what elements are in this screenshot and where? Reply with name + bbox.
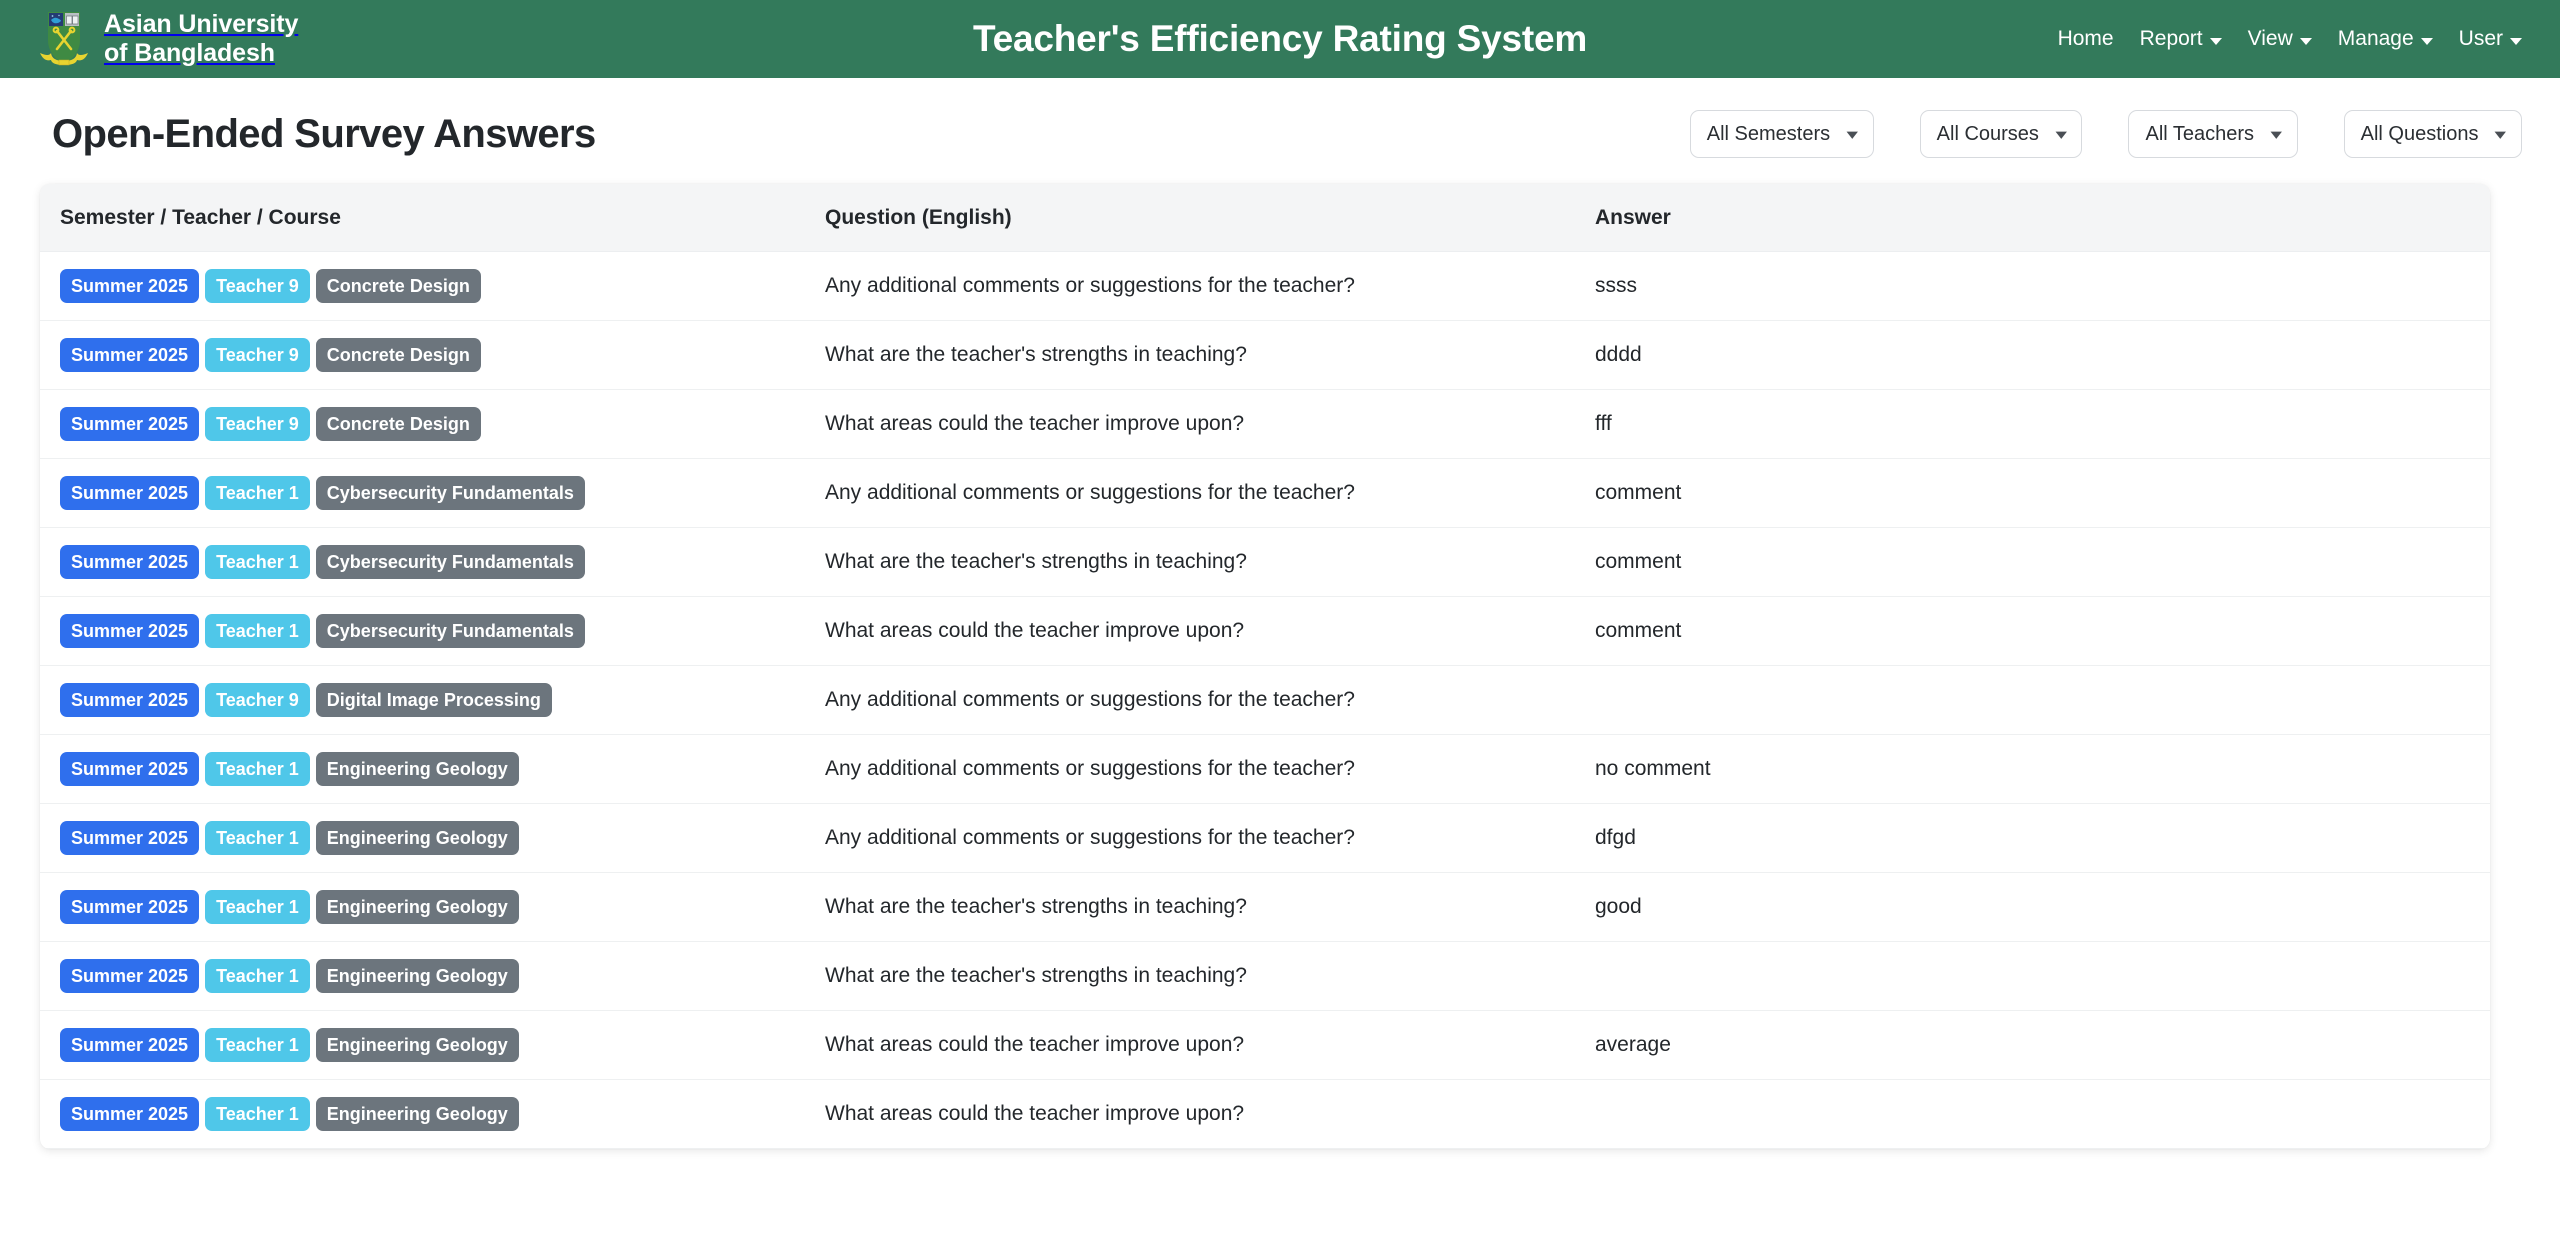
cell-answer: comment bbox=[1595, 459, 2490, 528]
cell-semester-teacher-course: Summer 2025Teacher 1Cybersecurity Fundam… bbox=[40, 528, 825, 597]
table-row: Summer 2025Teacher 9Concrete DesignAny a… bbox=[40, 252, 2490, 321]
table-body: Summer 2025Teacher 9Concrete DesignAny a… bbox=[40, 252, 2490, 1149]
badge-group: Summer 2025Teacher 9Digital Image Proces… bbox=[60, 683, 825, 717]
status-badge-course: Engineering Geology bbox=[316, 1028, 519, 1062]
cell-semester-teacher-course: Summer 2025Teacher 9Concrete Design bbox=[40, 252, 825, 321]
table-row: Summer 2025Teacher 1Engineering GeologyW… bbox=[40, 1011, 2490, 1080]
status-badge-semester: Summer 2025 bbox=[60, 890, 199, 924]
brand-name: Asian University of Bangladesh bbox=[104, 10, 298, 68]
nav-item-home[interactable]: Home bbox=[2058, 27, 2114, 51]
status-badge-course: Concrete Design bbox=[316, 407, 481, 441]
teacher-filter-value: All Teachers bbox=[2145, 123, 2254, 146]
cell-question: What are the teacher's strengths in teac… bbox=[825, 528, 1595, 597]
status-badge-teacher: Teacher 1 bbox=[205, 614, 310, 648]
cell-semester-teacher-course: Summer 2025Teacher 1Engineering Geology bbox=[40, 804, 825, 873]
page-content: Open-Ended Survey Answers All Semesters … bbox=[0, 78, 2560, 1149]
status-badge-teacher: Teacher 9 bbox=[205, 407, 310, 441]
chevron-down-icon bbox=[2300, 38, 2312, 45]
cell-semester-teacher-course: Summer 2025Teacher 1Engineering Geology bbox=[40, 1080, 825, 1149]
cell-question: What are the teacher's strengths in teac… bbox=[825, 321, 1595, 390]
badge-group: Summer 2025Teacher 1Engineering Geology bbox=[60, 890, 825, 924]
status-badge-teacher: Teacher 1 bbox=[205, 959, 310, 993]
badge-group: Summer 2025Teacher 1Engineering Geology bbox=[60, 1097, 825, 1131]
cell-answer: fff bbox=[1595, 390, 2490, 459]
question-filter-value: All Questions bbox=[2361, 123, 2479, 146]
cell-answer bbox=[1595, 942, 2490, 1011]
cell-question: Any additional comments or suggestions f… bbox=[825, 804, 1595, 873]
chevron-down-icon: ▾ bbox=[1847, 127, 1859, 141]
cell-question: What areas could the teacher improve upo… bbox=[825, 390, 1595, 459]
status-badge-semester: Summer 2025 bbox=[60, 338, 199, 372]
nav-item-report-label: Report bbox=[2140, 27, 2203, 51]
status-badge-course: Cybersecurity Fundamentals bbox=[316, 476, 585, 510]
status-badge-course: Engineering Geology bbox=[316, 1097, 519, 1131]
table-row: Summer 2025Teacher 1Cybersecurity Fundam… bbox=[40, 597, 2490, 666]
chevron-down-icon bbox=[2421, 38, 2433, 45]
status-badge-course: Cybersecurity Fundamentals bbox=[316, 614, 585, 648]
top-navbar: Asian University of Bangladesh Teacher's… bbox=[0, 0, 2560, 78]
nav-item-report[interactable]: Report bbox=[2140, 27, 2222, 51]
cell-answer bbox=[1595, 1080, 2490, 1149]
survey-answers-table: Semester / Teacher / Course Question (En… bbox=[40, 184, 2490, 1149]
badge-group: Summer 2025Teacher 1Engineering Geology bbox=[60, 959, 825, 993]
status-badge-teacher: Teacher 9 bbox=[205, 683, 310, 717]
status-badge-semester: Summer 2025 bbox=[60, 1028, 199, 1062]
brand-line-1: Asian University bbox=[104, 10, 298, 38]
nav-item-manage-label: Manage bbox=[2338, 27, 2414, 51]
status-badge-course: Concrete Design bbox=[316, 338, 481, 372]
status-badge-semester: Summer 2025 bbox=[60, 959, 199, 993]
badge-group: Summer 2025Teacher 1Engineering Geology bbox=[60, 1028, 825, 1062]
cell-semester-teacher-course: Summer 2025Teacher 1Engineering Geology bbox=[40, 942, 825, 1011]
page-title: Open-Ended Survey Answers bbox=[52, 112, 596, 157]
cell-semester-teacher-course: Summer 2025Teacher 1Engineering Geology bbox=[40, 873, 825, 942]
table-head: Semester / Teacher / Course Question (En… bbox=[40, 184, 2490, 252]
teacher-filter[interactable]: All Teachers ▾ bbox=[2128, 110, 2297, 158]
nav-item-view-label: View bbox=[2248, 27, 2293, 51]
cell-answer: ssss bbox=[1595, 252, 2490, 321]
status-badge-semester: Summer 2025 bbox=[60, 1097, 199, 1131]
cell-answer: dddd bbox=[1595, 321, 2490, 390]
chevron-down-icon: ▾ bbox=[2271, 127, 2283, 141]
status-badge-semester: Summer 2025 bbox=[60, 407, 199, 441]
cell-answer: average bbox=[1595, 1011, 2490, 1080]
badge-group: Summer 2025Teacher 9Concrete Design bbox=[60, 269, 825, 303]
cell-semester-teacher-course: Summer 2025Teacher 1Cybersecurity Fundam… bbox=[40, 459, 825, 528]
nav-item-user-label: User bbox=[2459, 27, 2503, 51]
cell-answer: comment bbox=[1595, 597, 2490, 666]
nav-item-home-label: Home bbox=[2058, 27, 2114, 51]
column-header-semester-teacher-course: Semester / Teacher / Course bbox=[40, 184, 825, 252]
table-row: Summer 2025Teacher 1Engineering GeologyA… bbox=[40, 804, 2490, 873]
cell-question: Any additional comments or suggestions f… bbox=[825, 459, 1595, 528]
cell-semester-teacher-course: Summer 2025Teacher 1Engineering Geology bbox=[40, 1011, 825, 1080]
cell-semester-teacher-course: Summer 2025Teacher 9Concrete Design bbox=[40, 390, 825, 459]
page-header-row: Open-Ended Survey Answers All Semesters … bbox=[38, 78, 2522, 184]
status-badge-teacher: Teacher 1 bbox=[205, 1097, 310, 1131]
table-row: Summer 2025Teacher 9Concrete DesignWhat … bbox=[40, 321, 2490, 390]
nav-item-user[interactable]: User bbox=[2459, 27, 2522, 51]
status-badge-teacher: Teacher 1 bbox=[205, 821, 310, 855]
status-badge-course: Engineering Geology bbox=[316, 890, 519, 924]
cell-answer: no comment bbox=[1595, 735, 2490, 804]
chevron-down-icon: ▾ bbox=[2495, 127, 2507, 141]
status-badge-course: Engineering Geology bbox=[316, 821, 519, 855]
status-badge-teacher: Teacher 1 bbox=[205, 1028, 310, 1062]
cell-question: What are the teacher's strengths in teac… bbox=[825, 942, 1595, 1011]
badge-group: Summer 2025Teacher 1Cybersecurity Fundam… bbox=[60, 545, 825, 579]
chevron-down-icon: ▾ bbox=[2055, 127, 2067, 141]
badge-group: Summer 2025Teacher 1Engineering Geology bbox=[60, 821, 825, 855]
badge-group: Summer 2025Teacher 1Cybersecurity Fundam… bbox=[60, 476, 825, 510]
chevron-down-icon bbox=[2510, 38, 2522, 45]
status-badge-teacher: Teacher 1 bbox=[205, 752, 310, 786]
status-badge-semester: Summer 2025 bbox=[60, 476, 199, 510]
course-filter-value: All Courses bbox=[1937, 123, 2039, 146]
cell-answer: comment bbox=[1595, 528, 2490, 597]
cell-semester-teacher-course: Summer 2025Teacher 9Concrete Design bbox=[40, 321, 825, 390]
cell-question: What areas could the teacher improve upo… bbox=[825, 597, 1595, 666]
question-filter[interactable]: All Questions ▾ bbox=[2344, 110, 2522, 158]
status-badge-semester: Summer 2025 bbox=[60, 545, 199, 579]
cell-question: Any additional comments or suggestions f… bbox=[825, 735, 1595, 804]
status-badge-course: Cybersecurity Fundamentals bbox=[316, 545, 585, 579]
table-row: Summer 2025Teacher 1Engineering GeologyW… bbox=[40, 873, 2490, 942]
status-badge-semester: Summer 2025 bbox=[60, 821, 199, 855]
cell-semester-teacher-course: Summer 2025Teacher 9Digital Image Proces… bbox=[40, 666, 825, 735]
status-badge-semester: Summer 2025 bbox=[60, 752, 199, 786]
status-badge-teacher: Teacher 1 bbox=[205, 545, 310, 579]
cell-question: What are the teacher's strengths in teac… bbox=[825, 873, 1595, 942]
column-header-answer: Answer bbox=[1595, 184, 2490, 252]
brand-line-2: of Bangladesh bbox=[104, 39, 298, 68]
status-badge-semester: Summer 2025 bbox=[60, 614, 199, 648]
filter-bar: All Semesters ▾ All Courses ▾ All Teache… bbox=[1690, 110, 2522, 158]
table-row: Summer 2025Teacher 9Digital Image Proces… bbox=[40, 666, 2490, 735]
course-filter[interactable]: All Courses ▾ bbox=[1920, 110, 2083, 158]
cell-semester-teacher-course: Summer 2025Teacher 1Engineering Geology bbox=[40, 735, 825, 804]
nav-item-view[interactable]: View bbox=[2248, 27, 2312, 51]
status-badge-course: Digital Image Processing bbox=[316, 683, 552, 717]
university-crest-icon bbox=[38, 8, 90, 70]
table-row: Summer 2025Teacher 1Engineering GeologyA… bbox=[40, 735, 2490, 804]
cell-question: What areas could the teacher improve upo… bbox=[825, 1011, 1595, 1080]
status-badge-semester: Summer 2025 bbox=[60, 683, 199, 717]
cell-answer bbox=[1595, 666, 2490, 735]
table-row: Summer 2025Teacher 1Cybersecurity Fundam… bbox=[40, 528, 2490, 597]
cell-answer: good bbox=[1595, 873, 2490, 942]
status-badge-course: Concrete Design bbox=[316, 269, 481, 303]
status-badge-course: Engineering Geology bbox=[316, 752, 519, 786]
cell-question: What areas could the teacher improve upo… bbox=[825, 1080, 1595, 1149]
table-row: Summer 2025Teacher 1Cybersecurity Fundam… bbox=[40, 459, 2490, 528]
cell-semester-teacher-course: Summer 2025Teacher 1Cybersecurity Fundam… bbox=[40, 597, 825, 666]
badge-group: Summer 2025Teacher 9Concrete Design bbox=[60, 338, 825, 372]
cell-question: Any additional comments or suggestions f… bbox=[825, 252, 1595, 321]
badge-group: Summer 2025Teacher 9Concrete Design bbox=[60, 407, 825, 441]
badge-group: Summer 2025Teacher 1Engineering Geology bbox=[60, 752, 825, 786]
survey-answers-card: Semester / Teacher / Course Question (En… bbox=[40, 184, 2490, 1149]
status-badge-semester: Summer 2025 bbox=[60, 269, 199, 303]
nav-item-manage[interactable]: Manage bbox=[2338, 27, 2433, 51]
main-nav: Home Report View Manage User bbox=[2058, 27, 2522, 51]
column-header-question: Question (English) bbox=[825, 184, 1595, 252]
table-row: Summer 2025Teacher 9Concrete DesignWhat … bbox=[40, 390, 2490, 459]
table-header-row: Semester / Teacher / Course Question (En… bbox=[40, 184, 2490, 252]
chevron-down-icon bbox=[2210, 38, 2222, 45]
status-badge-teacher: Teacher 1 bbox=[205, 890, 310, 924]
status-badge-course: Engineering Geology bbox=[316, 959, 519, 993]
status-badge-teacher: Teacher 1 bbox=[205, 476, 310, 510]
table-row: Summer 2025Teacher 1Engineering GeologyW… bbox=[40, 1080, 2490, 1149]
status-badge-teacher: Teacher 9 bbox=[205, 269, 310, 303]
semester-filter[interactable]: All Semesters ▾ bbox=[1690, 110, 1874, 158]
brand-logo-link[interactable]: Asian University of Bangladesh bbox=[38, 8, 298, 70]
table-row: Summer 2025Teacher 1Engineering GeologyW… bbox=[40, 942, 2490, 1011]
semester-filter-value: All Semesters bbox=[1707, 123, 1830, 146]
badge-group: Summer 2025Teacher 1Cybersecurity Fundam… bbox=[60, 614, 825, 648]
cell-question: Any additional comments or suggestions f… bbox=[825, 666, 1595, 735]
cell-answer: dfgd bbox=[1595, 804, 2490, 873]
status-badge-teacher: Teacher 9 bbox=[205, 338, 310, 372]
